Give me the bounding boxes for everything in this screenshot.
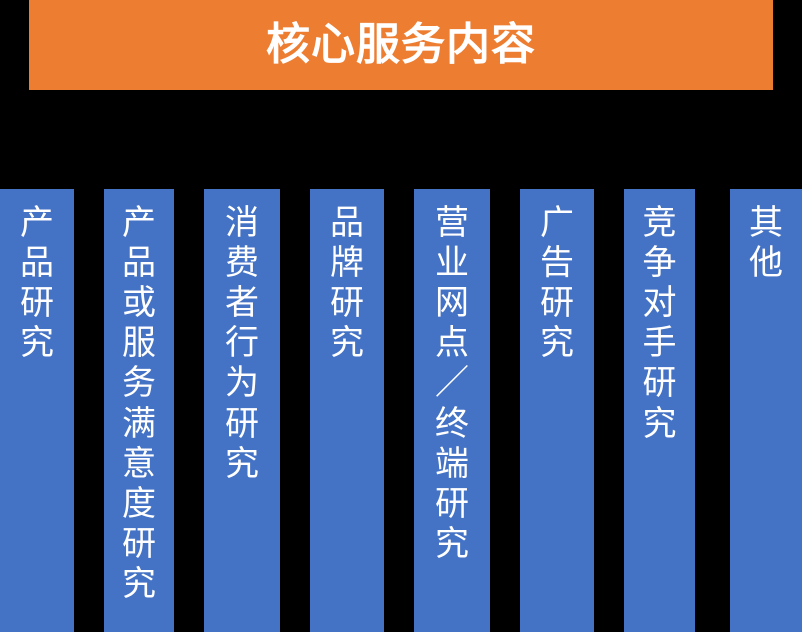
service-column-label: 产品或服务满意度研究 [104,189,174,604]
service-column-4[interactable]: 品牌研究 [310,189,384,632]
service-column-5[interactable]: 营业网点／终端研究 [414,189,490,632]
service-column-6[interactable]: 广告研究 [520,189,594,632]
slide-canvas: 核心服务内容 产品研究 产品或服务满意度研究 消费者行为研究 品牌研究 营业网点 [0,0,802,632]
service-column-label: 消费者行为研究 [204,189,280,484]
service-columns-group: 产品研究 产品或服务满意度研究 消费者行为研究 品牌研究 营业网点／终端研究 [0,189,802,632]
service-column-2[interactable]: 产品或服务满意度研究 [104,189,174,632]
service-column-label: 营业网点／终端研究 [414,189,490,564]
service-column-label: 广告研究 [520,189,594,363]
service-column-label: 品牌研究 [310,189,384,363]
service-column-label: 竞争对手研究 [624,189,695,444]
service-column-1[interactable]: 产品研究 [0,189,74,632]
header-banner: 核心服务内容 [29,0,773,90]
service-column-8[interactable]: 其他 [730,189,802,632]
page-title: 核心服务内容 [266,23,536,67]
service-column-label: 其他 [730,189,802,283]
service-column-3[interactable]: 消费者行为研究 [204,189,280,632]
service-column-label: 产品研究 [0,189,74,363]
service-column-7[interactable]: 竞争对手研究 [624,189,695,632]
